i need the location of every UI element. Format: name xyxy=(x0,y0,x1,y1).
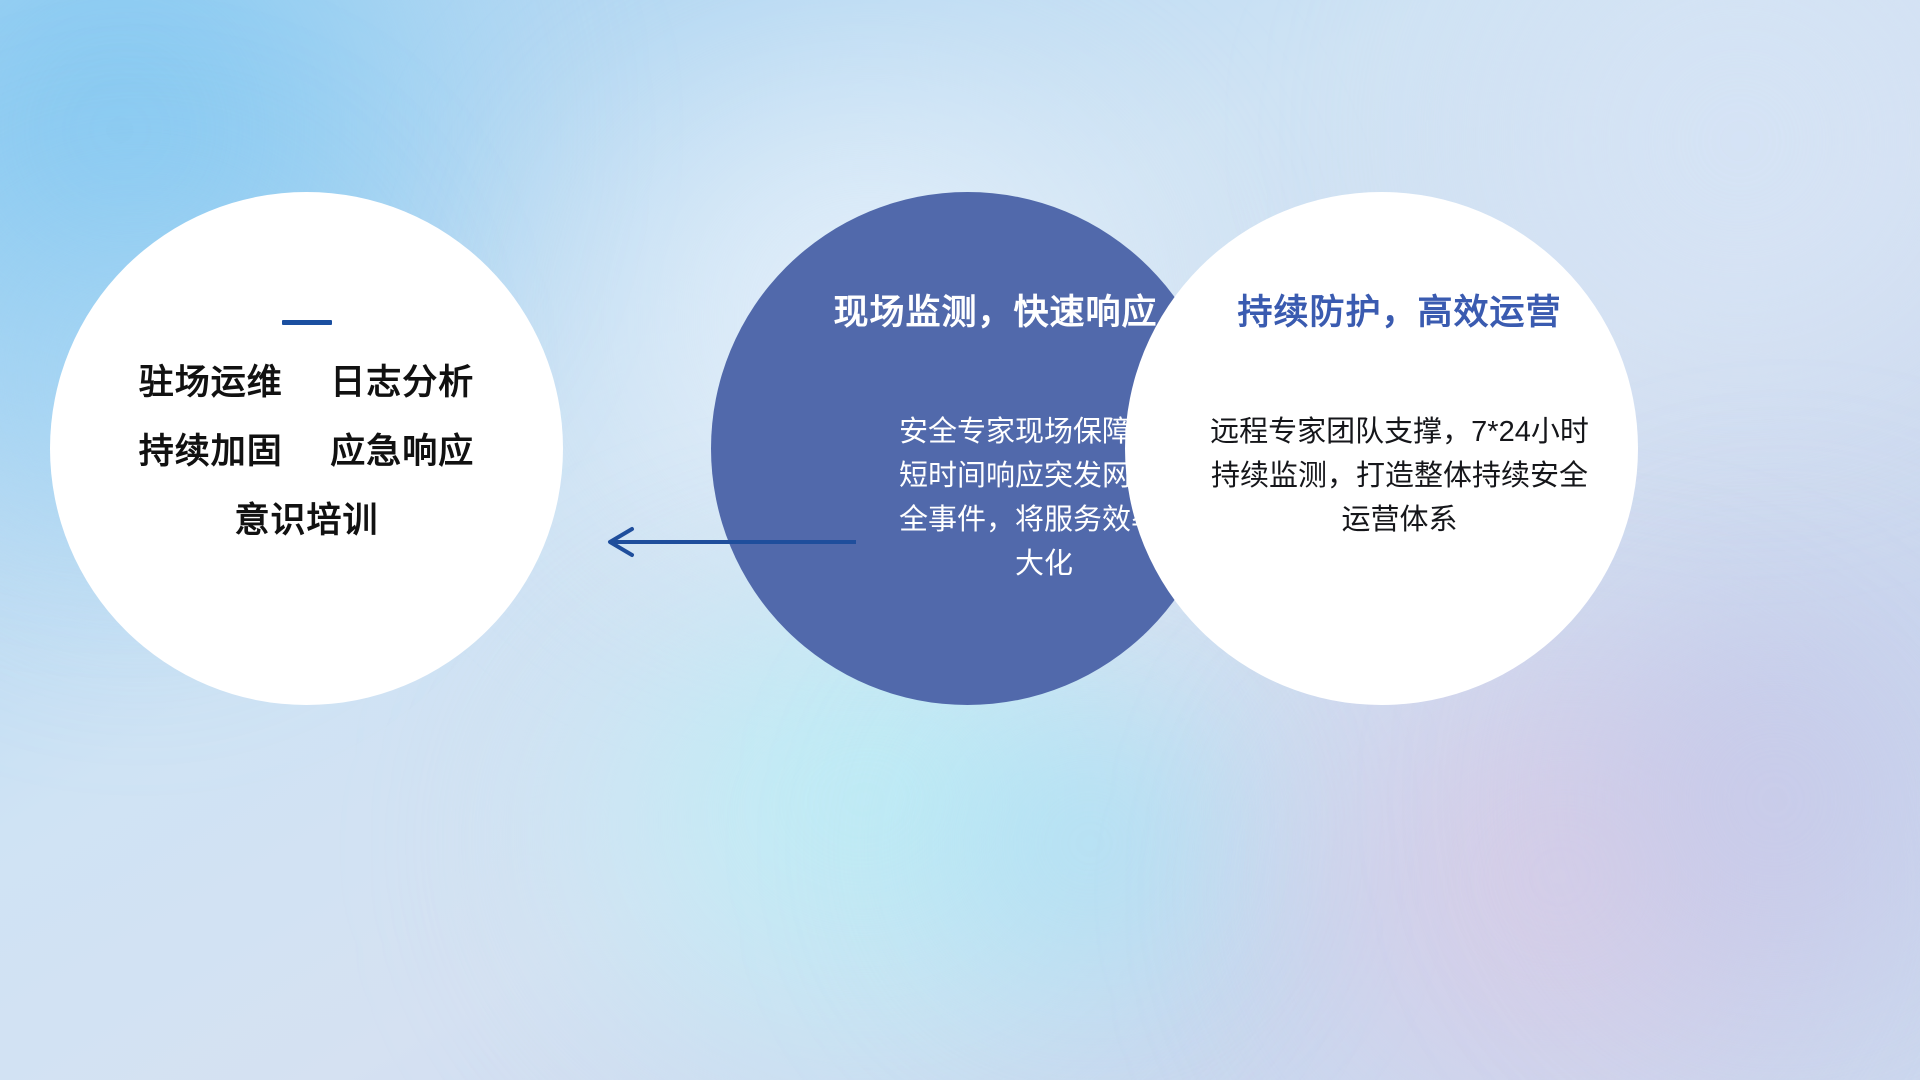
keyword-item[interactable]: 驻场运维 xyxy=(139,363,283,402)
keyword-item[interactable]: 应急响应 xyxy=(330,432,474,471)
keyword-row: 驻场运维 日志分析 xyxy=(50,365,563,400)
slide-canvas: 驻场运维 日志分析 持续加固 应急响应 意识培训 现场监测，快速响应 安全专家现… xyxy=(0,0,1920,1080)
keyword-item[interactable]: 持续加固 xyxy=(139,432,283,471)
continuous-protection-title: 持续防护，高效运营 xyxy=(1161,284,1638,335)
continuous-protection-content: 持续防护，高效运营 远程专家团队支撑，7*24小时持续监测，打造整体持续安全运营… xyxy=(1125,284,1638,542)
capabilities-content: 驻场运维 日志分析 持续加固 应急响应 意识培训 xyxy=(50,320,563,538)
glow-bottom-pink xyxy=(1280,640,1900,1080)
accent-dash-icon xyxy=(282,320,332,325)
continuous-protection-body: 远程专家团队支撑，7*24小时持续监测，打造整体持续安全运营体系 xyxy=(1200,410,1600,542)
keyword-item[interactable]: 意识培训 xyxy=(234,501,378,540)
keyword-row: 持续加固 应急响应 xyxy=(50,434,563,469)
continuous-protection-circle[interactable]: 持续防护，高效运营 远程专家团队支撑，7*24小时持续监测，打造整体持续安全运营… xyxy=(1125,192,1638,705)
left-arrow-icon xyxy=(598,522,858,562)
capabilities-circle[interactable]: 驻场运维 日志分析 持续加固 应急响应 意识培训 xyxy=(50,192,563,705)
keyword-row: 意识培训 xyxy=(50,503,563,538)
glow-bottom-cyan-core xyxy=(880,700,1300,1040)
keyword-item[interactable]: 日志分析 xyxy=(330,363,474,402)
glow-right-lavender xyxy=(1540,520,1920,1080)
connector-arrow xyxy=(598,522,858,562)
